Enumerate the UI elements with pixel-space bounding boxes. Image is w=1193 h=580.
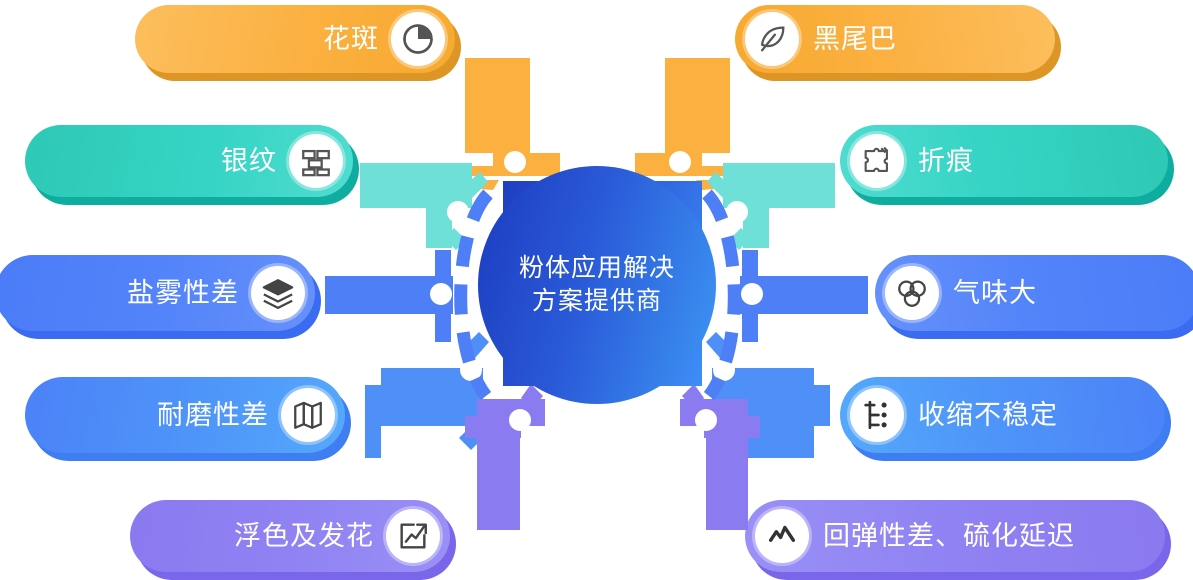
node-qiweida[interactable]: 气味大 [875,255,1193,331]
node-huitanxingcha-label: 回弹性差、硫化延迟 [823,523,1075,550]
puzzle-icon [850,134,904,188]
node-yinwen[interactable]: 银纹 [25,125,353,197]
trending-chart-icon [386,509,440,563]
leaf-icon [745,12,799,66]
node-fusejifahua[interactable]: 浮色及发花 [130,500,450,572]
center-node-label: 粉体应用解决 方案提供商 [519,252,675,318]
node-yinwen-label: 银纹 [221,148,277,175]
center-node[interactable]: 粉体应用解决 方案提供商 [478,166,716,404]
node-naimoxingcha-label: 耐磨性差 [157,402,269,429]
node-yanwuxingcha[interactable]: 盐雾性差 [0,255,315,331]
node-huaban[interactable]: 花斑 [135,5,455,73]
pie-chart-icon [391,12,445,66]
node-zhehen[interactable]: 折痕 [840,125,1168,197]
recycle-icon [885,266,939,320]
node-huaban-label: 花斑 [323,26,379,53]
connector-fusejifahua [465,394,585,534]
line-chart-icon [755,509,809,563]
map-icon [281,388,335,442]
sitemap-icon [850,388,904,442]
node-shousuobuwending-label: 收缩不稳定 [918,402,1058,429]
layers-icon [251,266,305,320]
infographic-diagram: 粉体应用解决 方案提供商 花斑 银纹 [0,0,1193,577]
node-zhehen-label: 折痕 [918,148,974,175]
node-naimoxingcha[interactable]: 耐磨性差 [25,377,345,453]
connector-huitanxingcha [640,394,760,534]
node-huitanxingcha[interactable]: 回弹性差、硫化延迟 [745,500,1165,572]
node-heiweiba-label: 黑尾巴 [813,26,897,53]
node-shousuobuwending[interactable]: 收缩不稳定 [840,377,1165,453]
node-yanwuxingcha-label: 盐雾性差 [127,280,239,307]
node-heiweiba[interactable]: 黑尾巴 [735,5,1055,73]
node-fusejifahua-label: 浮色及发花 [234,523,374,550]
node-qiweida-label: 气味大 [953,280,1037,307]
brick-wall-icon [289,134,343,188]
